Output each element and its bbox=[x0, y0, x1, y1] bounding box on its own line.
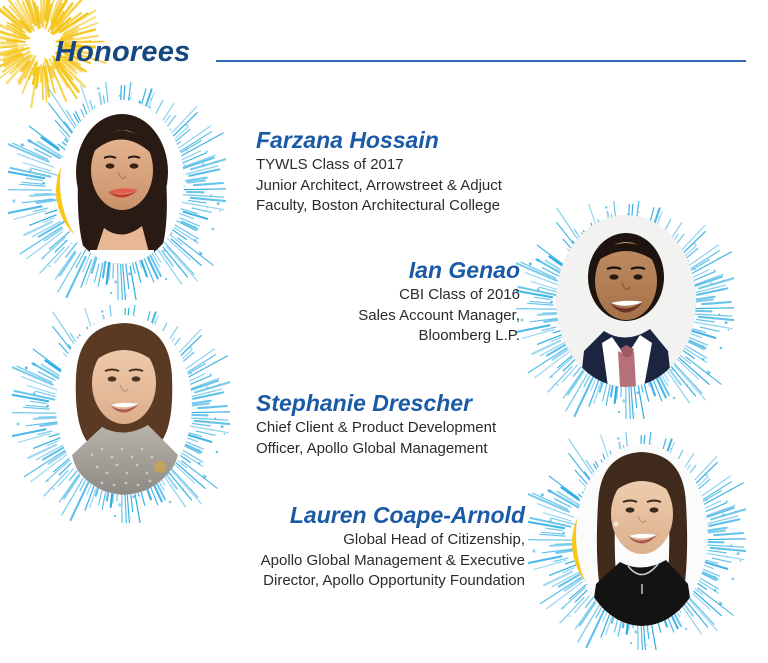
honoree-name: Stephanie Drescher bbox=[256, 390, 496, 416]
honoree-name: Ian Genao bbox=[220, 257, 520, 283]
honoree-detail-line: Global Head of Citizenship, bbox=[210, 530, 525, 550]
honoree-detail-line: Junior Architect, Arrowstreet & Adjuct bbox=[256, 176, 502, 196]
photo-stephanie-drescher bbox=[56, 315, 192, 495]
honoree-detail-line: Sales Account Manager, bbox=[220, 306, 520, 326]
text-block-ian-genao: Ian Genao CBI Class of 2016 Sales Accoun… bbox=[220, 257, 520, 346]
text-block-stephanie-drescher: Stephanie Drescher Chief Client & Produc… bbox=[256, 390, 496, 459]
page-title: Honorees bbox=[55, 36, 190, 69]
title-divider bbox=[216, 60, 746, 62]
honorees-poster: Honorees bbox=[0, 0, 768, 663]
honoree-detail-line: Director, Apollo Opportunity Foundation bbox=[210, 571, 525, 591]
portrait-ian-genao bbox=[516, 201, 734, 419]
honoree-detail-line: TYWLS Class of 2017 bbox=[256, 155, 502, 175]
portrait-stephanie-drescher bbox=[12, 305, 230, 523]
honoree-detail-line: Officer, Apollo Global Management bbox=[256, 439, 496, 459]
honoree-name: Lauren Coape-Arnold bbox=[210, 502, 525, 528]
photo-ian-genao bbox=[556, 215, 696, 387]
text-block-lauren-coape-arnold: Lauren Coape-Arnold Global Head of Citiz… bbox=[210, 502, 525, 591]
honoree-name: Farzana Hossain bbox=[256, 127, 502, 153]
honoree-detail-line: Bloomberg L.P. bbox=[220, 326, 520, 346]
honoree-detail-line: CBI Class of 2016 bbox=[220, 285, 520, 305]
portrait-farzana-hossain bbox=[8, 82, 226, 300]
portrait-lauren-coape-arnold bbox=[528, 432, 746, 650]
photo-lauren-coape-arnold bbox=[576, 444, 708, 626]
honoree-detail-line: Faculty, Boston Architectural College bbox=[256, 196, 502, 216]
photo-farzana-hossain bbox=[60, 100, 184, 264]
honoree-detail-line: Chief Client & Product Development bbox=[256, 418, 496, 438]
text-block-farzana-hossain: Farzana Hossain TYWLS Class of 2017 Juni… bbox=[256, 127, 502, 216]
honoree-detail-line: Apollo Global Management & Executive bbox=[210, 551, 525, 571]
